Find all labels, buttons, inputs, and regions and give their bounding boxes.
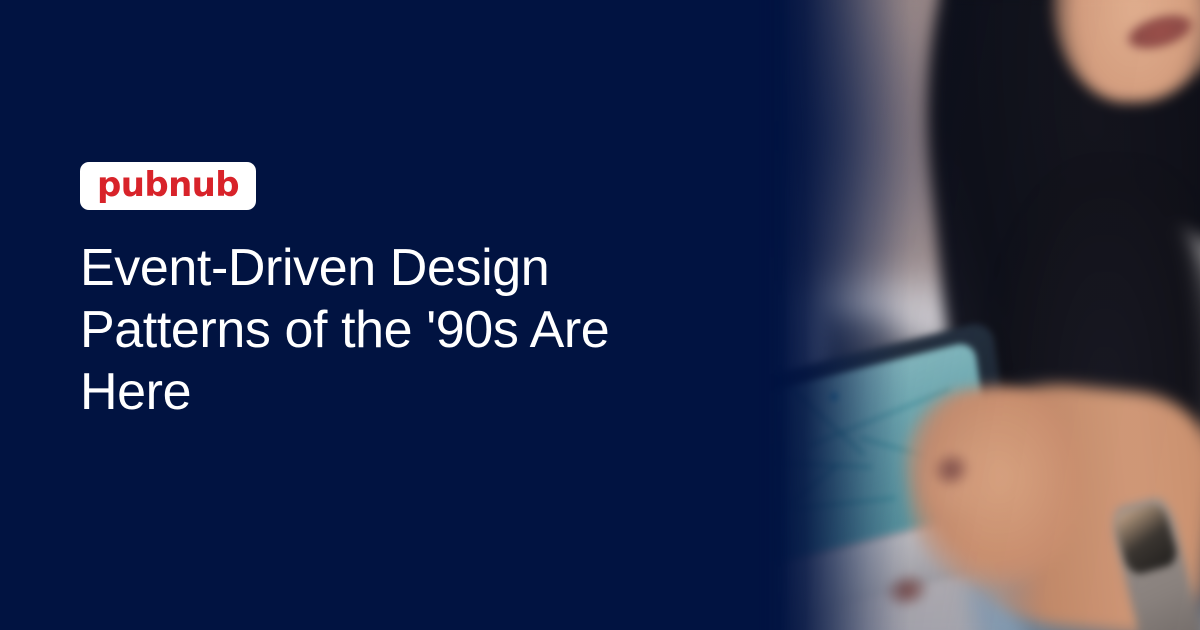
hero-photo [760,0,1200,630]
page-title: Event-Driven Design Patterns of the '90s… [80,238,705,424]
card-content: pubnub Event-Driven Design Patterns of t… [80,162,720,424]
photo-scene [760,0,1200,630]
map-marker-dot [830,392,839,402]
pubnub-logo-badge[interactable]: pubnub [80,162,256,210]
map-road-line [794,497,897,510]
pubnub-wordmark-logo: pubnub [97,168,239,202]
social-share-card: pubnub Event-Driven Design Patterns of t… [0,0,1200,630]
